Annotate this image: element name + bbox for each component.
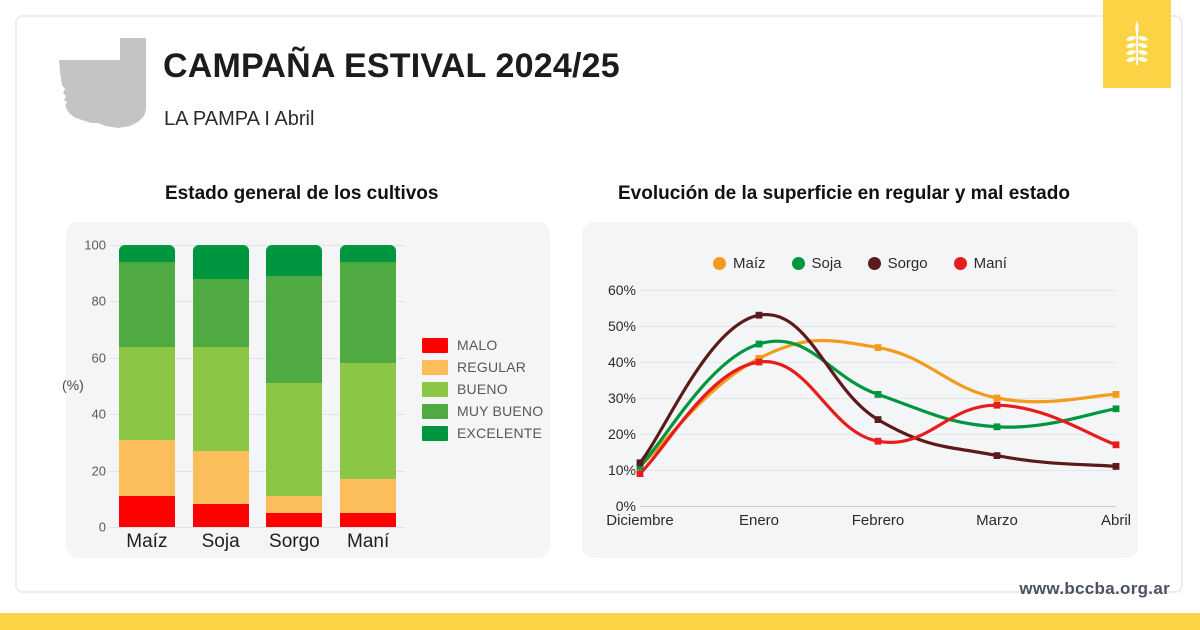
bar-segment-muy-bueno[interactable] <box>193 279 249 347</box>
bar-segment-bueno[interactable] <box>119 347 175 440</box>
bar-segment-malo[interactable] <box>193 504 249 527</box>
line-chart-title: Evolución de la superficie en regular y … <box>618 183 1070 205</box>
line-data-point[interactable] <box>637 470 644 477</box>
bar-segment-malo[interactable] <box>119 496 175 527</box>
line-legend-item-sorgo[interactable]: Sorgo <box>868 255 928 272</box>
bar-segment-regular[interactable] <box>193 451 249 505</box>
legend-swatch <box>422 360 448 375</box>
line-data-point[interactable] <box>994 395 1001 402</box>
bar-segment-muy-bueno[interactable] <box>266 276 322 383</box>
bar-segment-malo[interactable] <box>340 513 396 527</box>
bottom-accent-strip <box>0 613 1200 630</box>
footer-url: www.bccba.org.ar <box>1019 579 1170 599</box>
legend-swatch <box>422 426 448 441</box>
bar-column[interactable] <box>119 245 175 527</box>
line-legend-dot <box>792 257 805 270</box>
line-x-tick-label: Diciembre <box>580 512 700 529</box>
line-data-point[interactable] <box>1113 463 1120 470</box>
line-x-tick-label: Enero <box>699 512 819 529</box>
bar-stack <box>119 245 175 527</box>
bar-y-tick-label: 60 <box>92 350 106 365</box>
line-x-tick-label: Febrero <box>818 512 938 529</box>
page-subtitle: LA PAMPA I Abril <box>164 108 314 131</box>
bar-segment-muy-bueno[interactable] <box>340 262 396 364</box>
line-data-point[interactable] <box>875 391 882 398</box>
bar-stack <box>266 245 322 527</box>
legend-item-regular[interactable]: REGULAR <box>422 356 543 378</box>
bar-column[interactable] <box>340 245 396 527</box>
bar-stack <box>340 245 396 527</box>
line-data-point[interactable] <box>1113 441 1120 448</box>
infographic-canvas: CAMPAÑA ESTIVAL 2024/25 LA PAMPA I Abril… <box>0 0 1200 630</box>
line-y-tick-label: 60% <box>608 282 636 298</box>
legend-label: MUY BUENO <box>457 403 543 419</box>
bar-segment-excelente[interactable] <box>266 245 322 276</box>
brand-badge <box>1103 0 1171 88</box>
line-data-point[interactable] <box>756 341 763 348</box>
line-data-point[interactable] <box>994 423 1001 430</box>
legend-swatch <box>422 404 448 419</box>
bar-stack <box>193 245 249 527</box>
line-data-point[interactable] <box>875 438 882 445</box>
bar-segment-excelente[interactable] <box>119 245 175 262</box>
line-data-point[interactable] <box>637 459 644 466</box>
line-series-maiz[interactable] <box>640 340 1116 466</box>
line-y-tick-label: 20% <box>608 426 636 442</box>
line-data-point[interactable] <box>756 359 763 366</box>
line-legend-label: Sorgo <box>888 255 928 272</box>
bar-y-tick-label: 100 <box>84 238 106 253</box>
legend-label: MALO <box>457 337 497 353</box>
la-pampa-province-map-icon <box>58 38 146 136</box>
bar-segment-excelente[interactable] <box>340 245 396 262</box>
legend-swatch <box>422 338 448 353</box>
bar-y-axis: 020406080100 <box>66 238 106 528</box>
line-data-point[interactable] <box>1113 391 1120 398</box>
bar-segment-regular[interactable] <box>119 440 175 496</box>
line-x-tick-label: Marzo <box>937 512 1057 529</box>
bar-segment-bueno[interactable] <box>193 347 249 451</box>
line-y-tick-label: 40% <box>608 354 636 370</box>
line-data-point[interactable] <box>756 312 763 319</box>
line-legend-item-maiz[interactable]: Maíz <box>713 255 766 272</box>
bar-segment-regular[interactable] <box>340 479 396 513</box>
line-legend-dot <box>868 257 881 270</box>
line-plot-area: DiciembreEneroFebreroMarzoAbril <box>640 290 1116 506</box>
bar-segment-bueno[interactable] <box>340 363 396 479</box>
legend-item-malo[interactable]: MALO <box>422 334 543 356</box>
line-y-tick-label: 10% <box>608 462 636 478</box>
bar-y-tick-label: 80 <box>92 294 106 309</box>
bar-x-tick-label: Maní <box>323 531 413 553</box>
bar-segment-malo[interactable] <box>266 513 322 527</box>
line-x-axis <box>640 506 1116 507</box>
bar-segment-bueno[interactable] <box>266 383 322 496</box>
legend-swatch <box>422 382 448 397</box>
line-series-soja[interactable] <box>640 341 1116 466</box>
line-data-point[interactable] <box>1113 405 1120 412</box>
line-y-axis: 0%10%20%30%40%50%60% <box>592 283 636 513</box>
line-data-point[interactable] <box>875 416 882 423</box>
bar-gridline <box>110 527 405 528</box>
line-y-tick-label: 30% <box>608 390 636 406</box>
legend-item-muy-bueno[interactable]: MUY BUENO <box>422 400 543 422</box>
legend-label: EXCELENTE <box>457 425 542 441</box>
line-legend-dot <box>954 257 967 270</box>
line-series-svg <box>640 290 1116 508</box>
line-legend-dot <box>713 257 726 270</box>
bar-column[interactable] <box>266 245 322 527</box>
page-title: CAMPAÑA ESTIVAL 2024/25 <box>163 47 620 86</box>
line-legend-label: Maíz <box>733 255 766 272</box>
bar-column[interactable] <box>193 245 249 527</box>
legend-label: REGULAR <box>457 359 526 375</box>
bar-plot-area: MaízSojaSorgoManí <box>110 245 405 527</box>
bar-y-tick-label: 20 <box>92 463 106 478</box>
bar-segment-muy-bueno[interactable] <box>119 262 175 347</box>
wheat-stalk-icon <box>1122 20 1152 68</box>
legend-item-excelente[interactable]: EXCELENTE <box>422 422 543 444</box>
line-data-point[interactable] <box>994 452 1001 459</box>
bar-y-tick-label: 40 <box>92 407 106 422</box>
line-y-tick-label: 50% <box>608 318 636 334</box>
bar-segment-regular[interactable] <box>266 496 322 513</box>
legend-label: BUENO <box>457 381 508 397</box>
line-data-point[interactable] <box>994 402 1001 409</box>
bar-segment-excelente[interactable] <box>193 245 249 279</box>
line-chart-legend: MaízSojaSorgoManí <box>582 255 1138 272</box>
line-legend-item-mani[interactable]: Maní <box>954 255 1007 272</box>
line-legend-label: Maní <box>974 255 1007 272</box>
line-legend-item-soja[interactable]: Soja <box>792 255 842 272</box>
line-x-tick-label: Abril <box>1056 512 1176 529</box>
bar-chart-title: Estado general de los cultivos <box>165 183 438 205</box>
bar-chart-legend: MALOREGULARBUENOMUY BUENOEXCELENTE <box>422 334 543 444</box>
line-legend-label: Soja <box>812 255 842 272</box>
line-data-point[interactable] <box>875 344 882 351</box>
legend-item-bueno[interactable]: BUENO <box>422 378 543 400</box>
